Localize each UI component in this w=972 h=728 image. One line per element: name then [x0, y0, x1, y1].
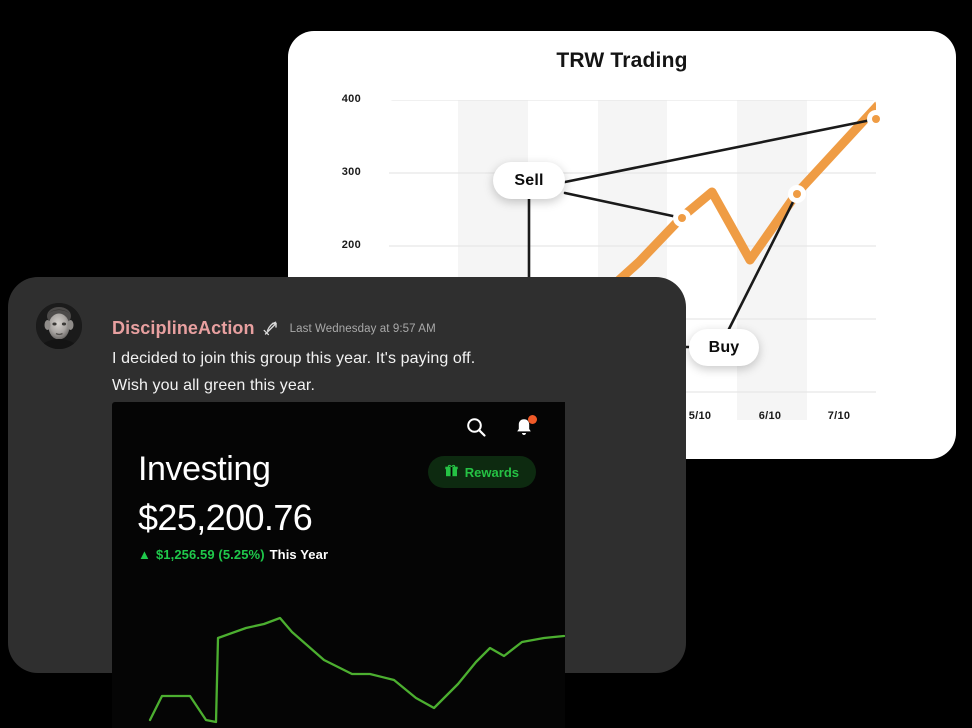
y-axis-tick-200: 200 [327, 239, 361, 251]
avatar[interactable] [36, 303, 82, 349]
change-period: This Year [270, 547, 328, 562]
investing-amount: $25,200.76 [138, 497, 312, 539]
x-axis-tick-2: 7/10 [819, 410, 859, 422]
screenshot-root: TRW Trading [0, 0, 972, 728]
investing-panel: Investing $25,200.76 ▲ $1,256.59 (5.25%)… [112, 402, 565, 728]
avatar-portrait-icon [36, 303, 82, 349]
y-axis-tick-300: 300 [327, 166, 361, 178]
change-arrow-icon: ▲ [138, 547, 151, 562]
annotation-pill-sell[interactable]: Sell [493, 162, 565, 199]
message-timestamp: Last Wednesday at 9:57 AM [290, 323, 436, 335]
message-header: DisciplineAction Last Wednesday at 9:57 … [112, 318, 436, 339]
bell-icon[interactable] [511, 414, 537, 440]
chat-username[interactable]: DisciplineAction [112, 318, 255, 339]
rewards-label: Rewards [465, 465, 519, 480]
bow-and-arrow-icon [262, 320, 279, 337]
investing-toolbar [463, 414, 537, 440]
investing-mini-chart [112, 608, 565, 728]
message-line-1: I decided to join this group this year. … [112, 346, 582, 373]
search-icon[interactable] [463, 414, 489, 440]
annotation-pill-buy[interactable]: Buy [689, 329, 759, 366]
x-axis-tick-0: 5/10 [680, 410, 720, 422]
notification-dot [528, 415, 537, 424]
y-axis-tick-400: 400 [327, 93, 361, 105]
investing-change: ▲ $1,256.59 (5.25%) This Year [138, 547, 328, 562]
gift-icon [445, 464, 458, 480]
investing-title: Investing [138, 450, 270, 489]
x-axis-tick-1: 6/10 [750, 410, 790, 422]
change-value: $1,256.59 (5.25%) [156, 547, 265, 562]
message-body: I decided to join this group this year. … [112, 346, 582, 400]
rewards-button[interactable]: Rewards [428, 456, 536, 488]
message-line-2: Wish you all green this year. [112, 373, 582, 400]
